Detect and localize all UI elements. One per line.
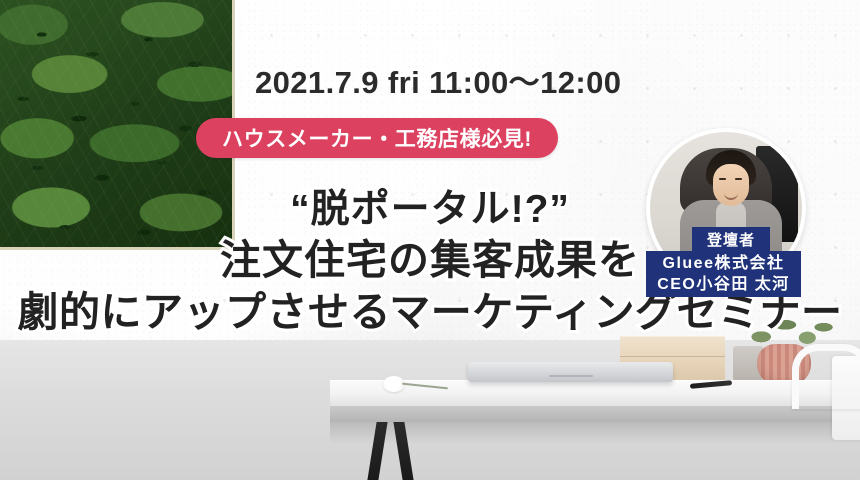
speaker-info-box: Gluee株式会社 CEO小谷田 太河 (646, 251, 801, 297)
desk-shadow (330, 422, 860, 444)
chair-arm (792, 344, 860, 409)
desk-edge (330, 406, 860, 422)
laptop (468, 362, 673, 382)
event-datetime: 2021.7.9 fri 11:00～12:00 (255, 57, 621, 102)
audience-badge: ハウスメーカー・工務店様必見! (196, 118, 558, 158)
desk-scene (0, 340, 860, 480)
speaker-tag: 登壇者 (692, 227, 770, 252)
white-chair (792, 338, 860, 480)
speaker-company: Gluee株式会社 (663, 253, 785, 274)
speaker-block: 登壇者 Gluee株式会社 CEO小谷田 太河 (641, 128, 811, 288)
photo-eye-right (735, 178, 742, 180)
seminar-banner: 2021.7.9 fri 11:00～12:00 ハウスメーカー・工務店様必見!… (0, 0, 860, 480)
speaker-name: CEO小谷田 太河 (657, 274, 790, 295)
photo-eye-left (719, 178, 726, 180)
